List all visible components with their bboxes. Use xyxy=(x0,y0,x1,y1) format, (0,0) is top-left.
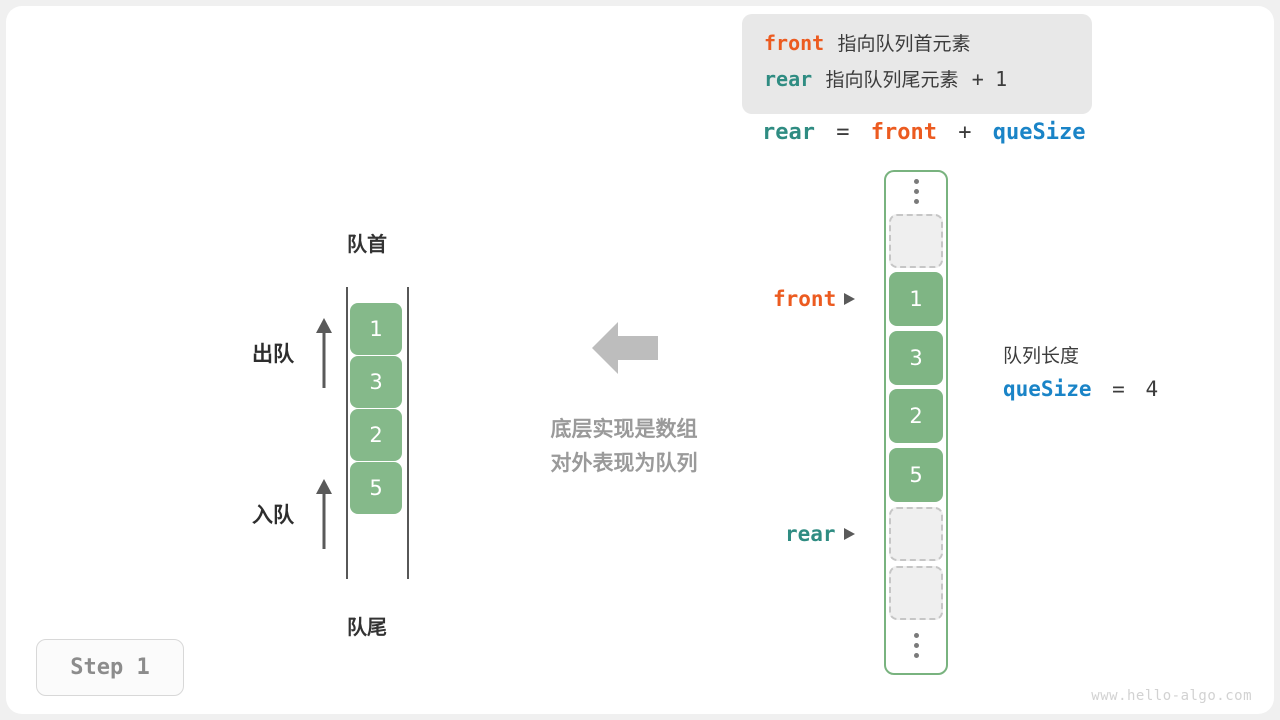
queue-size-equals: = xyxy=(1112,377,1125,401)
info-rear-plus: + xyxy=(972,67,984,91)
info-rear-text: 指向队列尾元素 xyxy=(825,69,958,91)
center-caption-line1: 底层实现是数组 xyxy=(528,412,720,446)
dequeue-arrow-icon xyxy=(313,316,335,388)
queue-size-var: queSize xyxy=(1003,377,1092,401)
left-arrow-icon xyxy=(592,318,658,378)
queue-size-expression: queSize = 4 xyxy=(1003,372,1158,406)
queue-tail-label: 队尾 xyxy=(347,611,387,640)
enqueue-label: 入队 xyxy=(252,499,294,529)
watermark: www.hello-algo.com xyxy=(1091,688,1252,704)
array-cell-2-value: 3 xyxy=(909,346,922,370)
array-cell-4-value: 5 xyxy=(909,463,922,487)
queue-head-label: 队首 xyxy=(347,228,387,257)
array-cell-4: 5 xyxy=(889,448,943,502)
info-rear-term: rear xyxy=(764,67,812,91)
array-cell-1: 1 xyxy=(889,272,943,326)
front-pointer: front xyxy=(773,287,855,311)
formula-front: front xyxy=(871,120,937,145)
info-line-rear: rear 指向队列尾元素 + 1 xyxy=(764,62,1072,98)
center-caption: 底层实现是数组 对外表现为队列 xyxy=(528,412,720,480)
array-cell-5 xyxy=(889,507,943,561)
rear-pointer-label: rear xyxy=(785,522,836,546)
queue-rail-left xyxy=(346,287,348,579)
step-badge: Step 1 xyxy=(36,639,184,696)
array-cell-2: 3 xyxy=(889,331,943,385)
queue-cell-0: 1 xyxy=(350,303,402,355)
array-cell-3-value: 2 xyxy=(909,404,922,428)
front-pointer-label: front xyxy=(773,287,836,311)
queue-cell-2: 2 xyxy=(350,409,402,461)
info-line-front: front 指向队列首元素 xyxy=(764,26,1072,62)
formula-rear: rear xyxy=(762,120,815,145)
enqueue-arrow-icon xyxy=(313,477,335,549)
queue-cell-3: 5 xyxy=(350,462,402,514)
formula-rear-equals-front-plus-quesize: rear = front + queSize xyxy=(762,118,1085,148)
diagram-canvas: front 指向队列首元素 rear 指向队列尾元素 + 1 rear = fr… xyxy=(0,0,1280,720)
rear-pointer: rear xyxy=(785,522,855,546)
info-front-text: 指向队列首元素 xyxy=(838,33,971,55)
queue-cell-1: 3 xyxy=(350,356,402,408)
info-rear-one: 1 xyxy=(995,67,1007,91)
center-caption-line2: 对外表现为队列 xyxy=(528,446,720,480)
queue-rail-right xyxy=(407,287,409,579)
queue-cell-1-value: 3 xyxy=(369,370,382,394)
formula-plus: + xyxy=(958,120,971,145)
array-cell-0 xyxy=(889,214,943,268)
array-top-ellipsis-icon xyxy=(889,174,943,208)
queue-cell-3-value: 5 xyxy=(369,476,382,500)
array-cell-6 xyxy=(889,566,943,620)
dequeue-label: 出队 xyxy=(252,338,294,368)
queue-size-title: 队列长度 xyxy=(1003,340,1158,372)
formula-quesize: queSize xyxy=(993,120,1086,145)
front-pointer-arrow-icon xyxy=(844,293,855,305)
info-box: front 指向队列首元素 rear 指向队列尾元素 + 1 xyxy=(742,14,1092,114)
array-cell-1-value: 1 xyxy=(909,287,922,311)
queue-size-note: 队列长度 queSize = 4 xyxy=(1003,340,1158,406)
rear-pointer-arrow-icon xyxy=(844,528,855,540)
queue-cell-2-value: 2 xyxy=(369,423,382,447)
formula-equals: = xyxy=(836,120,849,145)
queue-size-value: 4 xyxy=(1145,377,1158,401)
info-front-term: front xyxy=(764,31,824,55)
array-cell-3: 2 xyxy=(889,389,943,443)
queue-cell-0-value: 1 xyxy=(369,317,382,341)
array-bottom-ellipsis-icon xyxy=(889,628,943,662)
